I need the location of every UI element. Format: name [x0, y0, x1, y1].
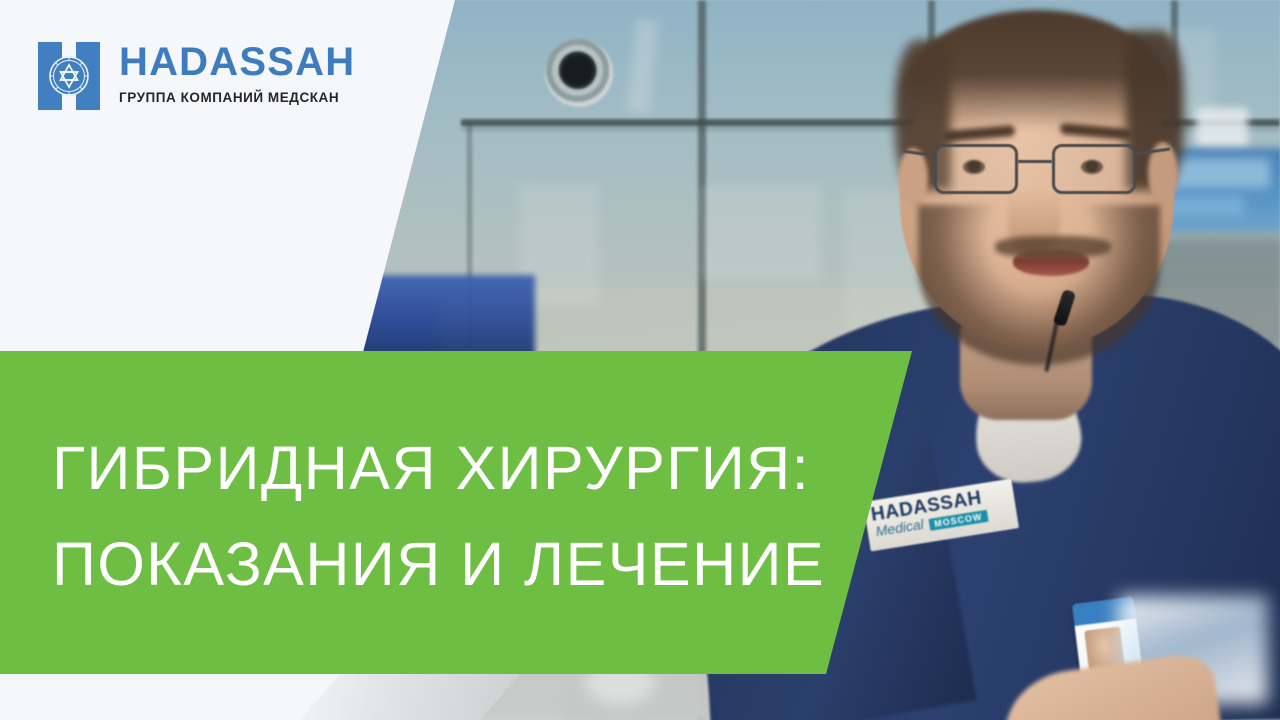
hadassah-logo: HADASSAH ГРУППА КОМПАНИЙ МЕДСКАН [36, 40, 355, 112]
video-title: ГИБРИДНАЯ ХИРУРГИЯ: ПОКАЗАНИЯ И ЛЕЧЕНИЕ [52, 420, 825, 612]
ear-left [898, 148, 928, 208]
logo-tagline: ГРУППА КОМПАНИЙ МЕДСКАН [119, 90, 355, 105]
bottom-light-strip [0, 674, 340, 720]
hadassah-h-star-emblem-icon [36, 40, 102, 112]
video-thumbnail: HADASSAH Medical MOSCOW [0, 0, 1280, 720]
eyeglasses-lens-right [1052, 144, 1136, 194]
mustache [995, 236, 1111, 258]
eyeglasses-lens-left [934, 144, 1018, 194]
video-title-line-1: ГИБРИДНАЯ ХИРУРГИЯ: [52, 420, 825, 516]
logo-wordmark: HADASSAH [119, 42, 355, 82]
eyeglasses-bridge [1018, 160, 1052, 163]
logo-text-block: HADASSAH ГРУППА КОМПАНИЙ МЕДСКАН [119, 40, 355, 105]
video-title-line-2: ПОКАЗАНИЯ И ЛЕЧЕНИЕ [52, 516, 825, 612]
